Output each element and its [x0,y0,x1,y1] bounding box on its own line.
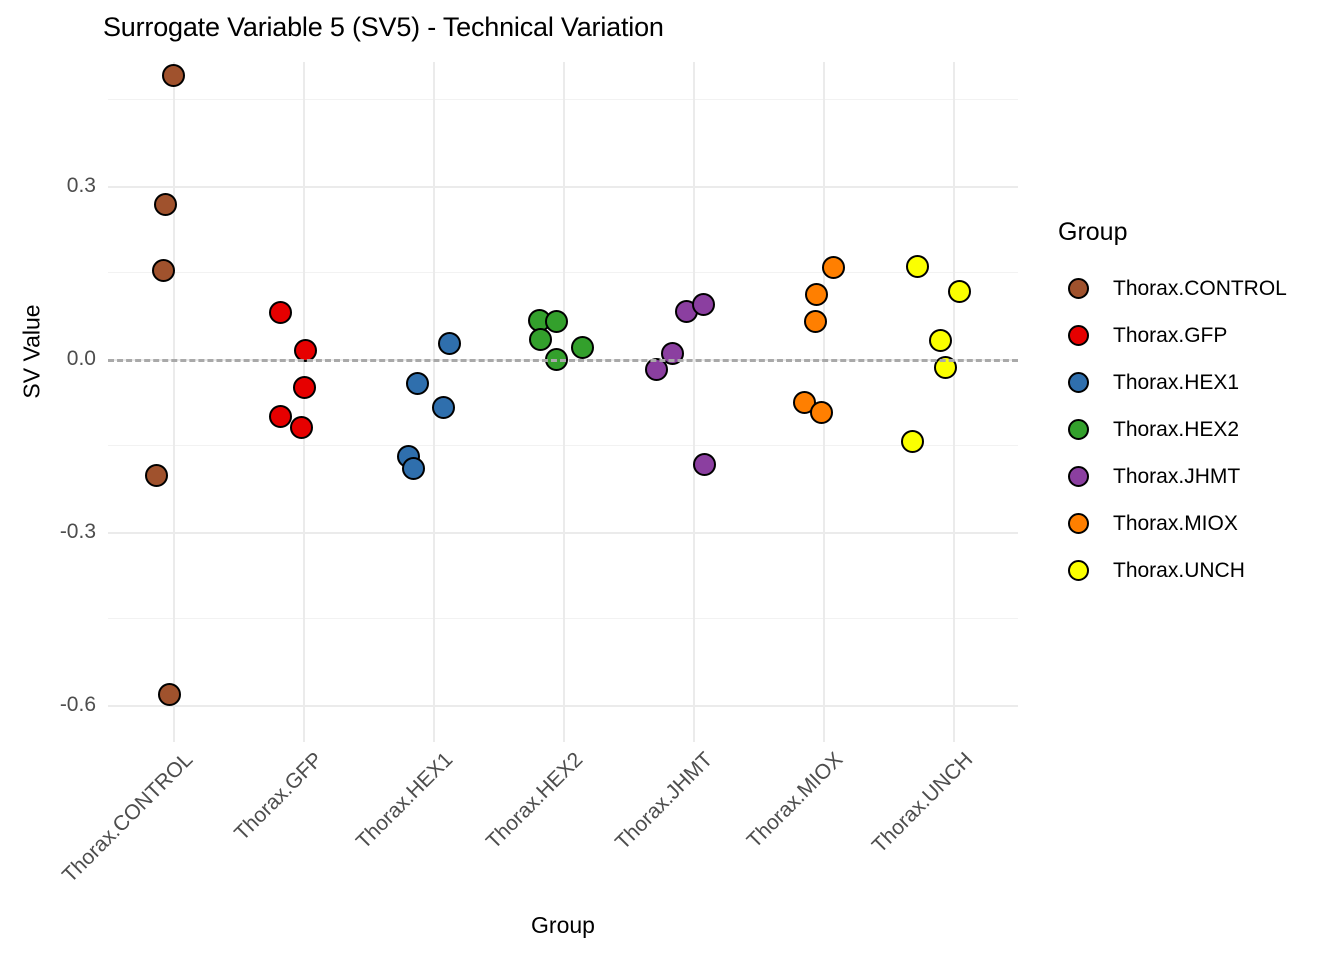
chart-root: Surrogate Variable 5 (SV5) - Technical V… [0,0,1344,960]
gridline-vertical [563,62,565,742]
data-point [269,405,292,428]
data-point [438,332,461,355]
plot-panel [108,62,1018,742]
y-axis-tick-label: 0.0 [67,347,96,371]
y-axis-tick-label: -0.6 [60,693,96,717]
legend-swatch-icon [1068,278,1089,299]
data-point [805,283,828,306]
data-point [269,301,292,324]
legend-item[interactable]: Thorax.MIOX [1056,500,1287,547]
legend-key-icon [1056,466,1100,487]
legend-swatch-icon [1068,560,1089,581]
data-point [692,293,715,316]
legend-item[interactable]: Thorax.JHMT [1056,453,1287,500]
legend-item[interactable]: Thorax.HEX2 [1056,406,1287,453]
zero-reference-line [108,359,1018,362]
data-point [545,310,568,333]
legend-swatch-icon [1068,466,1089,487]
x-axis-tick-label: Thorax.UNCH [868,748,978,858]
legend-swatch-icon [1068,419,1089,440]
x-axis-title: Group [108,912,1018,939]
y-axis-tick-labels: 0.30.0-0.3-0.6 [0,62,96,742]
data-point [906,255,929,278]
data-point [529,328,552,351]
legend-item[interactable]: Thorax.HEX1 [1056,359,1287,406]
y-axis-title: SV Value [19,232,46,472]
data-point [432,396,455,419]
x-axis-tick-label: Thorax.HEX1 [352,748,458,854]
data-point [693,453,716,476]
legend-swatch-icon [1068,372,1089,393]
data-point [406,372,429,395]
legend-item-label: Thorax.UNCH [1113,559,1245,583]
x-axis-tick-label: Thorax.GFP [230,748,328,846]
legend-key-icon [1056,278,1100,299]
x-axis-tick-label: Thorax.MIOX [743,748,848,853]
legend-key-icon [1056,560,1100,581]
x-axis-tick-labels: Thorax.CONTROLThorax.GFPThorax.HEX1Thora… [108,742,1018,892]
y-axis-tick-label: -0.3 [60,520,96,544]
data-point [804,310,827,333]
data-point [571,336,594,359]
legend-item[interactable]: Thorax.UNCH [1056,547,1287,594]
x-axis-tick-label: Thorax.HEX2 [482,748,588,854]
data-point [948,280,971,303]
legend-key-icon [1056,419,1100,440]
legend-key-icon [1056,513,1100,534]
page-title: Surrogate Variable 5 (SV5) - Technical V… [103,12,664,43]
data-point [822,256,845,279]
legend-item-label: Thorax.MIOX [1113,512,1238,536]
data-point [290,416,313,439]
gridline-vertical [693,62,695,742]
data-point [152,259,175,282]
legend-item-label: Thorax.JHMT [1113,465,1240,489]
legend-item-label: Thorax.HEX1 [1113,371,1239,395]
legend: Group Thorax.CONTROLThorax.GFPThorax.HEX… [1056,218,1287,594]
legend-item-label: Thorax.GFP [1113,324,1227,348]
data-point [402,457,425,480]
data-point [154,193,177,216]
x-axis-tick-label: Thorax.JHMT [611,748,718,855]
legend-key-icon [1056,372,1100,393]
data-point [145,464,168,487]
gridline-vertical [953,62,955,742]
legend-swatch-icon [1068,325,1089,346]
data-point [810,401,833,424]
data-point [162,64,185,87]
data-point [901,430,924,453]
data-point [929,329,952,352]
legend-item-label: Thorax.HEX2 [1113,418,1239,442]
x-axis-tick-label: Thorax.CONTROL [58,748,198,888]
gridline-vertical [303,62,305,742]
data-point [158,683,181,706]
legend-key-icon [1056,325,1100,346]
legend-swatch-icon [1068,513,1089,534]
legend-items: Thorax.CONTROLThorax.GFPThorax.HEX1Thora… [1056,265,1287,594]
legend-item[interactable]: Thorax.GFP [1056,312,1287,359]
gridline-vertical [173,62,175,742]
legend-item-label: Thorax.CONTROL [1113,277,1287,301]
legend-item[interactable]: Thorax.CONTROL [1056,265,1287,312]
data-point [293,376,316,399]
legend-title: Group [1058,218,1287,247]
y-axis-tick-label: 0.3 [67,174,96,198]
